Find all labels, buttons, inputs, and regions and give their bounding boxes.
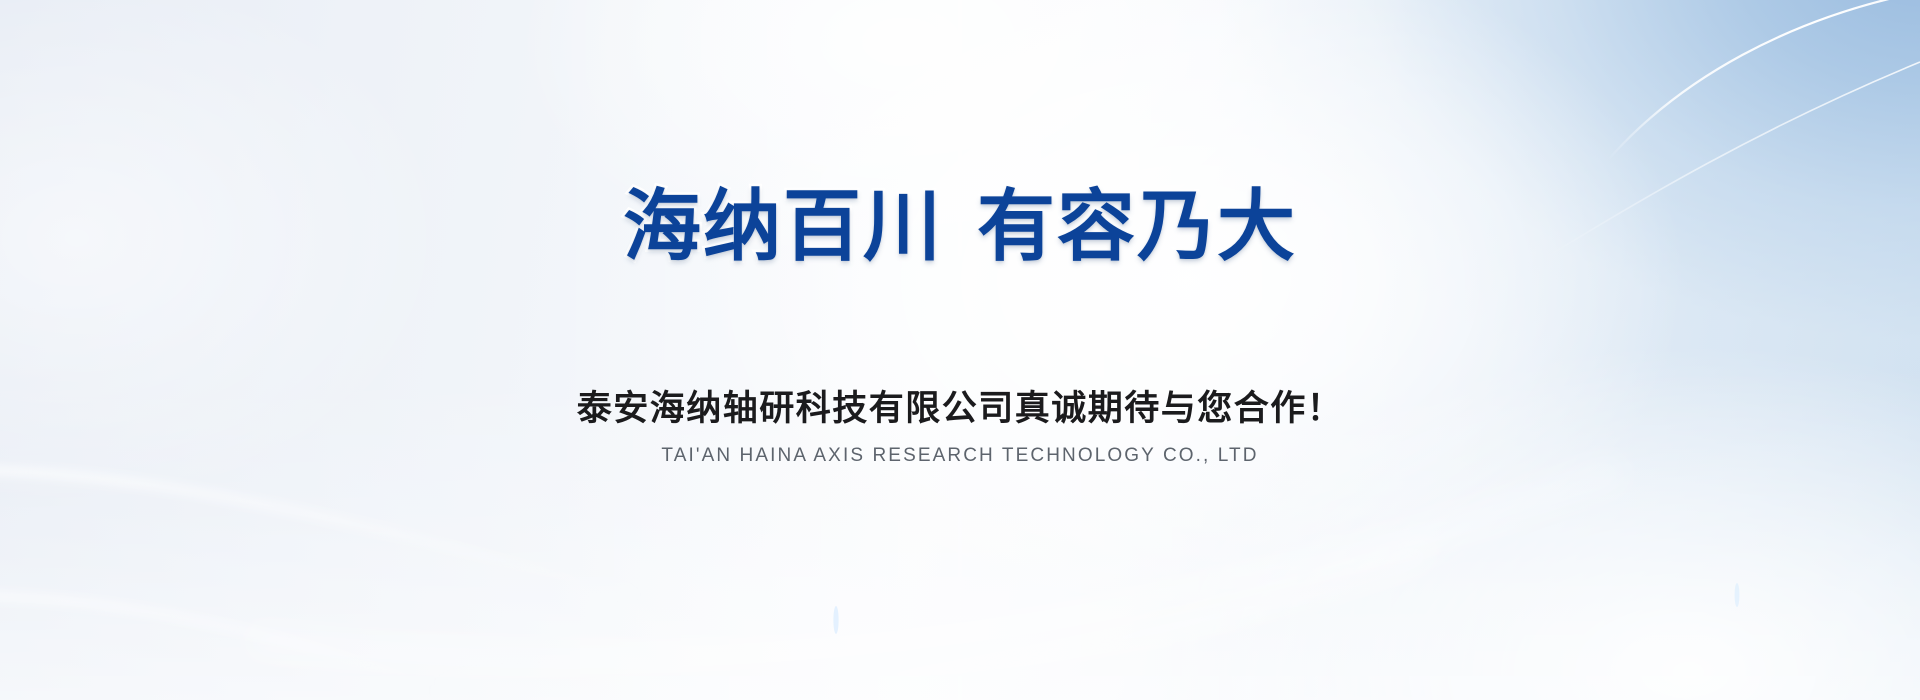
banner-content: 海纳百川有容乃大 泰安海纳轴研科技有限公司真诚期待与您合作！ TAI'AN HA… bbox=[0, 0, 1920, 700]
subtitle-english: TAI'AN HAINA AXIS RESEARCH TECHNOLOGY CO… bbox=[661, 445, 1258, 467]
subtitle-chinese: 泰安海纳轴研科技有限公司真诚期待与您合作！ bbox=[577, 380, 1344, 431]
headline-part-2: 有容乃大 bbox=[977, 182, 1297, 270]
hero-banner: 海纳百川有容乃大 泰安海纳轴研科技有限公司真诚期待与您合作！ TAI'AN HA… bbox=[0, 0, 1920, 700]
headline-part-1: 海纳百川 bbox=[623, 182, 943, 270]
page-title: 海纳百川有容乃大 bbox=[623, 186, 1297, 268]
